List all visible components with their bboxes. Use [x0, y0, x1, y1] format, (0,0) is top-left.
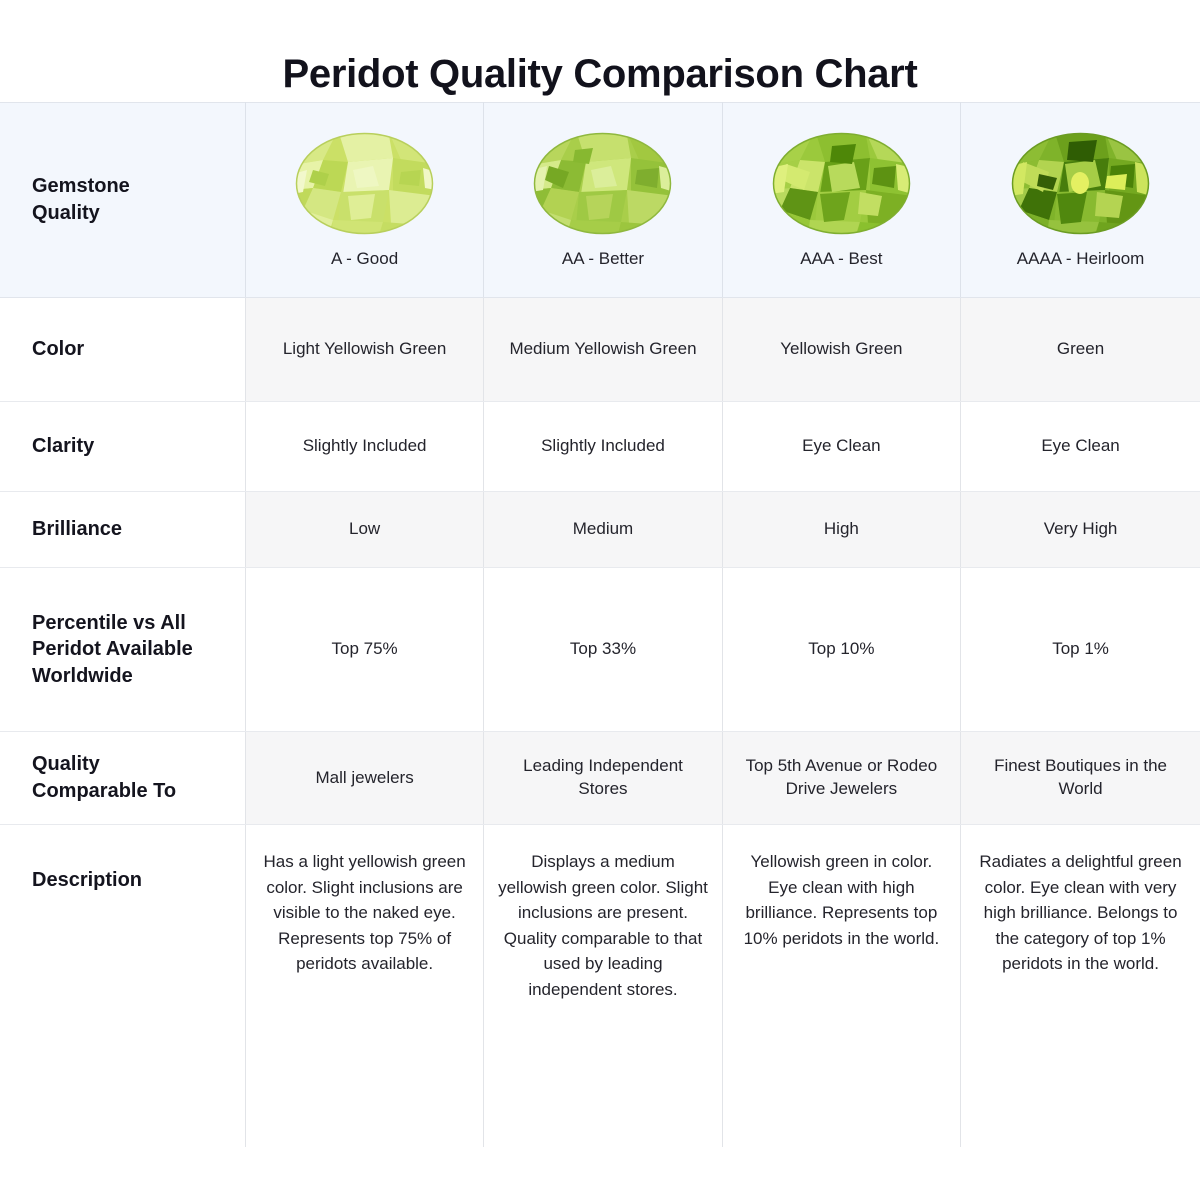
- cell-comparable-a: Mall jewelers: [245, 732, 483, 825]
- table-row-brilliance: Brilliance Low Medium High Very High: [0, 492, 1200, 568]
- cell-clarity-aa: Slightly Included: [484, 402, 722, 492]
- table-row-percentile: Percentile vs All Peridot Available Worl…: [0, 568, 1200, 732]
- cell-percentile-aaa: Top 10%: [722, 568, 960, 732]
- cell-description-aaa: Yellowish green in color. Eye clean with…: [722, 825, 960, 1147]
- peridot-quality-comparison-table: Gemstone Quality: [0, 102, 1200, 1147]
- cell-clarity-a: Slightly Included: [245, 402, 483, 492]
- cell-description-a: Has a light yellowish green color. Sligh…: [245, 825, 483, 1147]
- row-label-description: Description: [0, 825, 245, 1147]
- cell-brilliance-aaaa: Very High: [961, 492, 1200, 568]
- cell-color-aa: Medium Yellowish Green: [484, 298, 722, 402]
- cell-clarity-aaa: Eye Clean: [722, 402, 960, 492]
- oval-peridot-gemstone-icon: [1009, 130, 1152, 237]
- cell-percentile-aaaa: Top 1%: [961, 568, 1200, 732]
- oval-peridot-gemstone-icon: [770, 130, 913, 237]
- row-label-brilliance: Brilliance: [0, 492, 245, 568]
- cell-comparable-aaaa: Finest Boutiques in the World: [961, 732, 1200, 825]
- gem-grade-caption: AA - Better: [562, 249, 644, 269]
- cell-description-aaaa: Radiates a delightful green color. Eye c…: [961, 825, 1200, 1147]
- page-title: Peridot Quality Comparison Chart: [0, 0, 1200, 102]
- cell-comparable-aaa: Top 5th Avenue or Rodeo Drive Jewelers: [722, 732, 960, 825]
- cell-color-a: Light Yellowish Green: [245, 298, 483, 402]
- cell-description-aa: Displays a medium yellowish green color.…: [484, 825, 722, 1147]
- gem-header-cell-a: A - Good: [245, 103, 483, 298]
- cell-comparable-aa: Leading Independent Stores: [484, 732, 722, 825]
- table-row-color: Color Light Yellowish Green Medium Yello…: [0, 298, 1200, 402]
- table-row-gemstone-quality: Gemstone Quality: [0, 103, 1200, 298]
- cell-brilliance-aaa: High: [722, 492, 960, 568]
- cell-percentile-a: Top 75%: [245, 568, 483, 732]
- row-label-comparable: Quality Comparable To: [0, 732, 245, 825]
- cell-percentile-aa: Top 33%: [484, 568, 722, 732]
- gem-grade-caption: AAA - Best: [800, 249, 882, 269]
- gem-grade-caption: AAAA - Heirloom: [1017, 249, 1145, 269]
- gem-header-cell-aaaa: AAAA - Heirloom: [961, 103, 1200, 298]
- row-label-color: Color: [0, 298, 245, 402]
- oval-peridot-gemstone-icon: [531, 130, 674, 237]
- table-row-clarity: Clarity Slightly Included Slightly Inclu…: [0, 402, 1200, 492]
- table-row-comparable: Quality Comparable To Mall jewelers Lead…: [0, 732, 1200, 825]
- row-label-percentile: Percentile vs All Peridot Available Worl…: [0, 568, 245, 732]
- row-label-gemstone-quality: Gemstone Quality: [0, 103, 245, 298]
- table-row-description: Description Has a light yellowish green …: [0, 825, 1200, 1147]
- gem-grade-caption: A - Good: [331, 249, 398, 269]
- cell-color-aaaa: Green: [961, 298, 1200, 402]
- gem-header-cell-aaa: AAA - Best: [722, 103, 960, 298]
- cell-color-aaa: Yellowish Green: [722, 298, 960, 402]
- cell-brilliance-a: Low: [245, 492, 483, 568]
- gem-header-cell-aa: AA - Better: [484, 103, 722, 298]
- cell-clarity-aaaa: Eye Clean: [961, 402, 1200, 492]
- row-label-clarity: Clarity: [0, 402, 245, 492]
- oval-peridot-gemstone-icon: [293, 130, 436, 237]
- cell-brilliance-aa: Medium: [484, 492, 722, 568]
